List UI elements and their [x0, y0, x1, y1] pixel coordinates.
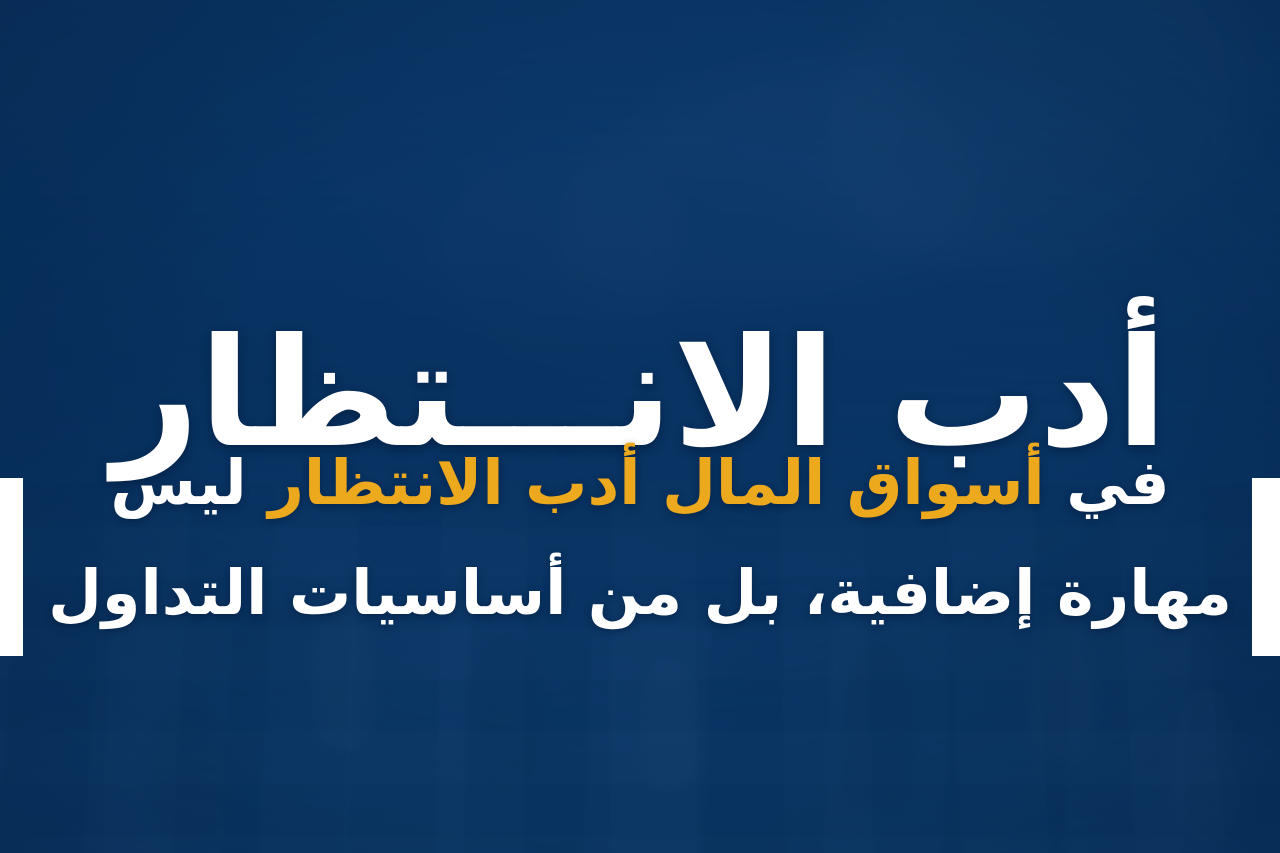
subtitle-segment-white-lead: في — [1066, 446, 1169, 519]
poster-canvas: أدب الانـــتظار في أسواق المال أدب الانت… — [0, 0, 1280, 853]
poster-text-content: أدب الانـــتظار في أسواق المال أدب الانت… — [0, 0, 1280, 853]
poster-subtitle-line-2: مهارة إضافية، بل من أساسيات التداول — [0, 562, 1280, 624]
subtitle-segment-gold: أسواق المال أدب الانتظار — [268, 446, 1044, 519]
subtitle-segment-white-trail: ليس — [110, 446, 246, 519]
poster-subtitle-line-1: في أسواق المال أدب الانتظار ليس — [0, 452, 1280, 514]
